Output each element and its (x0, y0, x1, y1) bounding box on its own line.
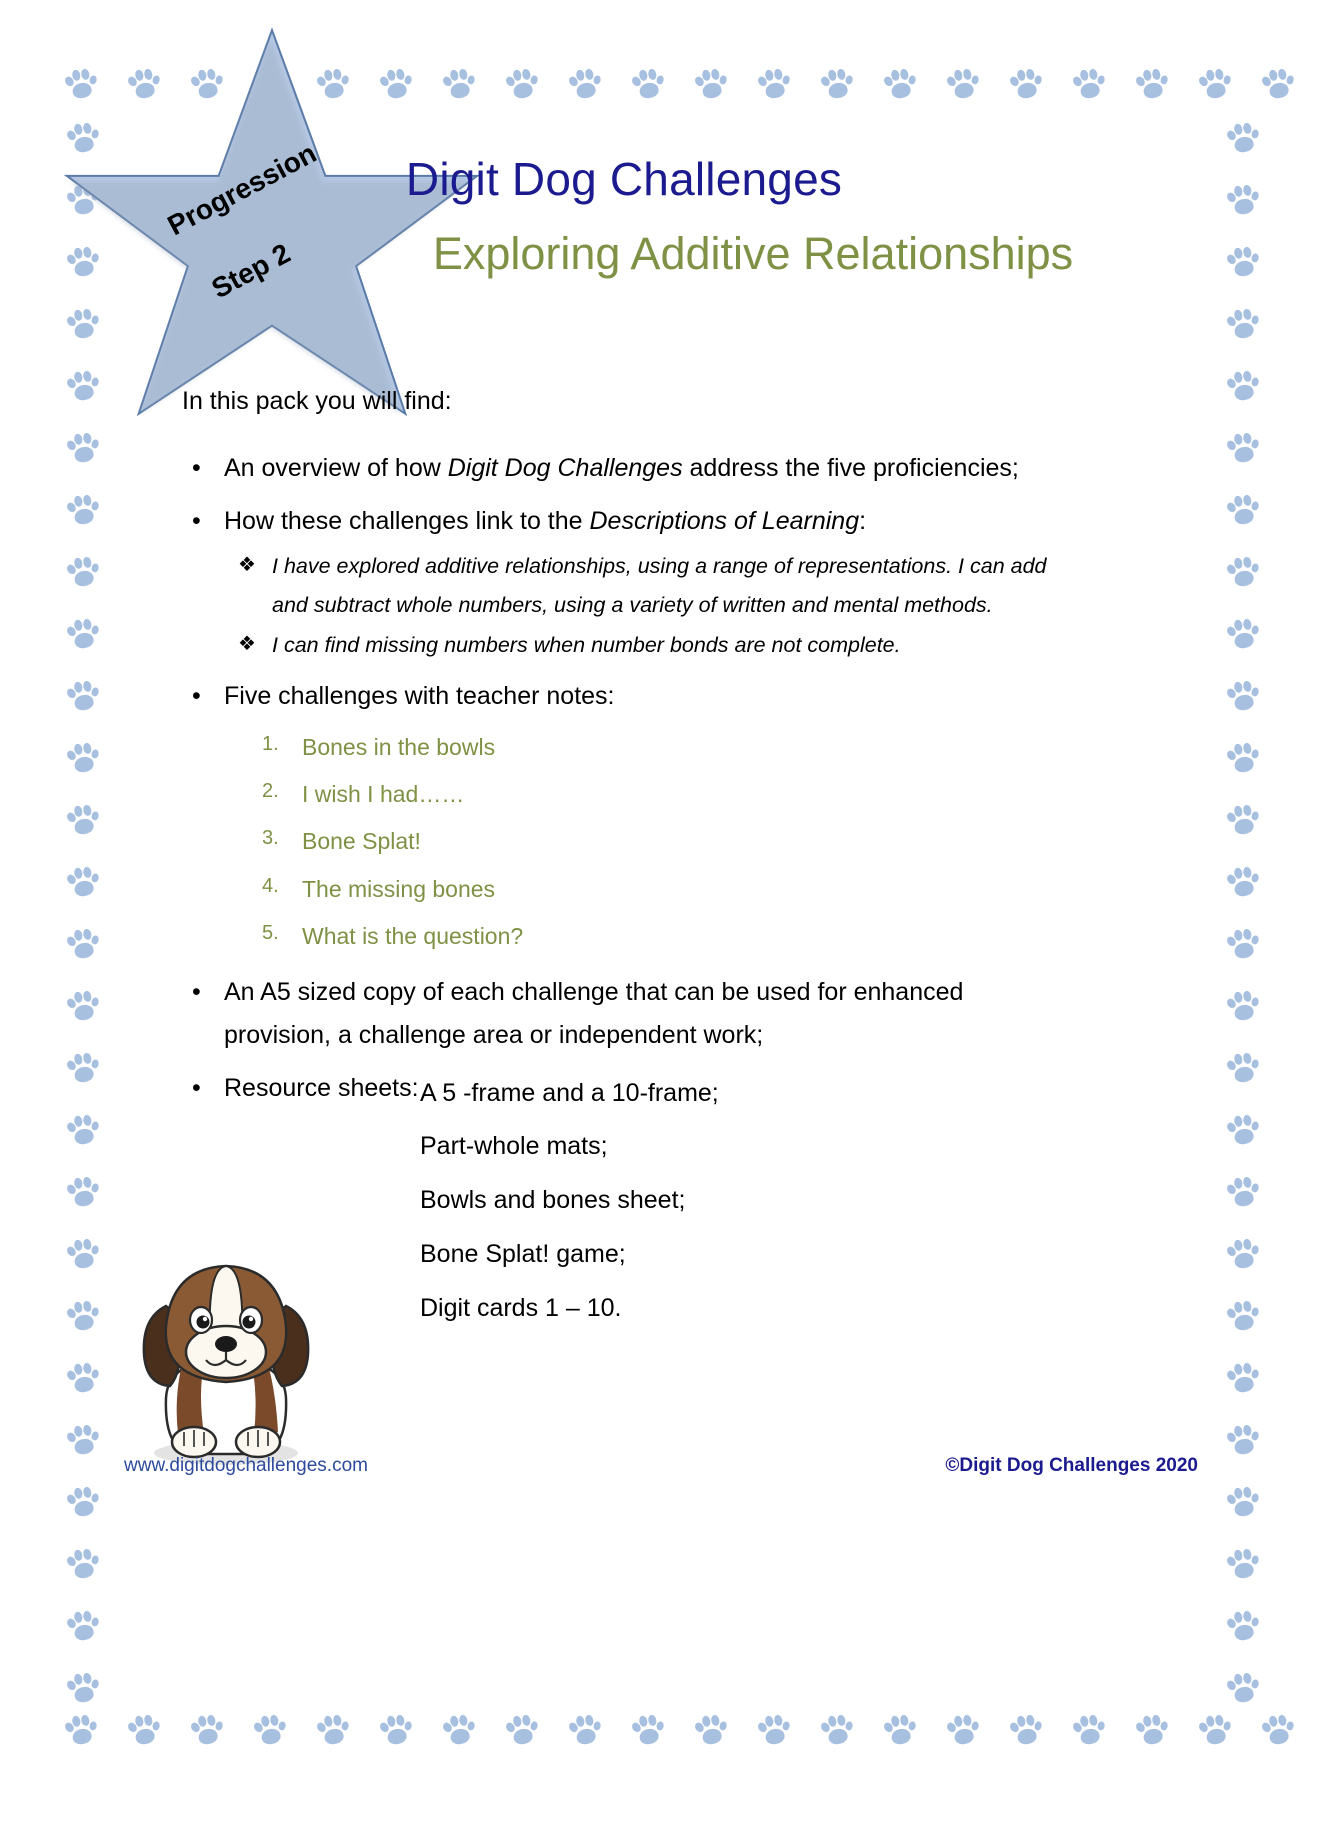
paw-print-icon (1132, 1709, 1172, 1749)
paw-print-icon (63, 1357, 103, 1397)
paw-print-icon (1132, 63, 1172, 103)
resource-item: Part-whole mats; (420, 1120, 1062, 1174)
paw-print-icon (313, 1709, 353, 1749)
challenge-index: 3. (262, 818, 279, 859)
paw-print-icon (63, 737, 103, 777)
challenge-index: 1. (262, 724, 279, 765)
paw-print-icon (943, 63, 983, 103)
description-text: I have explored additive relationships, … (272, 554, 1047, 617)
paw-print-icon (1006, 1709, 1046, 1749)
pack-contents: In this pack you will find: • An overvie… (182, 386, 1062, 1345)
paw-print-icon (63, 1481, 103, 1521)
page-subtitle: Exploring Additive Relationships (250, 228, 1256, 280)
paw-print-icon (63, 1667, 103, 1707)
paw-print-icon (1223, 365, 1263, 405)
challenges-heading: Five challenges with teacher notes: (224, 682, 615, 710)
bullet-text-post: address the five proficiencies; (683, 454, 1019, 482)
paw-print-icon (1223, 427, 1263, 467)
paw-print-icon (1223, 1171, 1263, 1211)
paw-print-icon (1223, 1109, 1263, 1149)
paw-print-icon (691, 63, 731, 103)
paw-print-icon (1258, 1709, 1298, 1749)
paw-print-icon (63, 985, 103, 1025)
challenge-index: 2. (262, 771, 279, 812)
paw-print-icon (1195, 1709, 1235, 1749)
footer-copyright: ©Digit Dog Challenges 2020 (945, 1455, 1198, 1477)
paw-print-icon (1223, 1481, 1263, 1521)
paw-print-icon (439, 1709, 479, 1749)
challenge-label: I wish I had…… (302, 781, 464, 807)
paw-print-icon (502, 63, 542, 103)
bullet-text-pre: An overview of how (224, 454, 448, 482)
paw-print-icon (1223, 1605, 1263, 1645)
page-title: Digit Dog Challenges (0, 152, 1248, 206)
challenge-label: Bone Splat! (302, 828, 421, 854)
document-page: Progression Step 2 Digit Dog Challenges … (0, 0, 1326, 1822)
bullet-icon: • (192, 971, 201, 1014)
paw-print-icon (1223, 675, 1263, 715)
paw-print-icon (1006, 63, 1046, 103)
paw-print-icon (63, 799, 103, 839)
paw-print-icon (1223, 1667, 1263, 1707)
paw-print-icon (1223, 799, 1263, 839)
paw-print-icon (63, 613, 103, 653)
paw-print-icon (880, 1709, 920, 1749)
paw-print-icon (63, 1109, 103, 1149)
list-item: • An A5 sized copy of each challenge tha… (182, 971, 1062, 1057)
resource-item: Bone Splat! game; (420, 1228, 1062, 1282)
paw-print-icon (565, 63, 605, 103)
paw-print-icon (1223, 1047, 1263, 1087)
progression-star-badge: Progression Step 2 (62, 22, 482, 422)
paw-print-icon (1223, 551, 1263, 591)
list-item: ❖ I can find missing numbers when number… (224, 626, 1062, 665)
paw-print-icon (63, 551, 103, 591)
paw-print-icon (754, 1709, 794, 1749)
paw-print-icon (502, 1709, 542, 1749)
bullet-text-pre: How these challenges link to the (224, 507, 590, 535)
star-shadow (70, 32, 470, 422)
paw-print-icon (63, 1605, 103, 1645)
list-item: • An overview of how Digit Dog Challenge… (182, 447, 1062, 490)
paw-print-icon (1223, 861, 1263, 901)
paw-print-icon (817, 63, 857, 103)
a5-copy-text: An A5 sized copy of each challenge that … (224, 978, 963, 1049)
challenge-label: What is the question? (302, 923, 523, 949)
bullet-icon: • (192, 1067, 201, 1110)
paw-print-icon (1223, 613, 1263, 653)
list-item: 2. I wish I had…… (224, 771, 1062, 818)
challenges-list: 1. Bones in the bowls 2. I wish I had…… … (224, 724, 1062, 961)
paw-print-icon (61, 1709, 101, 1749)
bullet-icon: • (192, 447, 201, 490)
list-item: ❖ I have explored additive relationships… (224, 547, 1062, 625)
paw-print-icon (63, 923, 103, 963)
paw-print-icon (1069, 1709, 1109, 1749)
paw-print-icon (250, 1709, 290, 1749)
paw-print-icon (1258, 63, 1298, 103)
paw-print-icon (63, 1543, 103, 1583)
paw-print-icon (1223, 1295, 1263, 1335)
paw-print-icon (1223, 1419, 1263, 1459)
resource-item: Bowls and bones sheet; (420, 1174, 1062, 1228)
paw-print-icon (63, 1419, 103, 1459)
list-item: • Five challenges with teacher notes: 1.… (182, 675, 1062, 961)
paw-print-icon (63, 1295, 103, 1335)
description-text: I can find missing numbers when number b… (272, 633, 901, 657)
challenge-index: 5. (262, 913, 279, 954)
resource-sheets-list: A 5 -frame and a 10-frame; Part-whole ma… (420, 1067, 1062, 1336)
diamond-bullet-icon: ❖ (238, 626, 256, 662)
descriptions-of-learning-list: ❖ I have explored additive relationships… (224, 547, 1062, 664)
list-item: 3. Bone Splat! (224, 818, 1062, 865)
diamond-bullet-icon: ❖ (238, 547, 256, 583)
paw-print-icon (628, 1709, 668, 1749)
paw-print-icon (1223, 1233, 1263, 1273)
dog-illustration (126, 1248, 326, 1468)
paw-print-icon (691, 1709, 731, 1749)
paw-print-icon (1223, 303, 1263, 343)
paw-print-icon (1195, 63, 1235, 103)
paw-print-icon (63, 489, 103, 529)
paw-print-icon (1223, 1357, 1263, 1397)
paw-print-icon (817, 1709, 857, 1749)
paw-print-icon (880, 63, 920, 103)
paw-print-icon (376, 1709, 416, 1749)
challenge-label: Bones in the bowls (302, 734, 495, 760)
bullet-text-italic: Descriptions of Learning (590, 507, 860, 535)
list-item: 1. Bones in the bowls (224, 724, 1062, 771)
footer-website-link[interactable]: www.digitdogchallenges.com (124, 1455, 368, 1477)
resource-item: A 5 -frame and a 10-frame; (420, 1067, 1062, 1121)
list-item: 4. The missing bones (224, 866, 1062, 913)
paw-print-icon (1223, 1543, 1263, 1583)
bullet-icon: • (192, 500, 201, 543)
paw-print-icon (63, 427, 103, 467)
contents-list: • An overview of how Digit Dog Challenge… (182, 447, 1062, 1335)
paw-print-icon (1223, 985, 1263, 1025)
bullet-text-post: : (859, 507, 866, 535)
paw-print-icon (565, 1709, 605, 1749)
paw-print-icon (63, 675, 103, 715)
paw-print-icon (63, 861, 103, 901)
resource-sheets-row: Resource sheets: A 5 -frame and a 10-fra… (224, 1067, 1062, 1336)
paw-print-icon (63, 1171, 103, 1211)
paw-print-icon (754, 63, 794, 103)
list-item: • How these challenges link to the Descr… (182, 500, 1062, 664)
paw-print-icon (187, 1709, 227, 1749)
paw-print-icon (1223, 737, 1263, 777)
paw-print-icon (628, 63, 668, 103)
paw-print-icon (1223, 489, 1263, 529)
intro-line: In this pack you will find: (182, 386, 1062, 417)
list-item: 5. What is the question? (224, 913, 1062, 960)
paw-print-icon (1069, 63, 1109, 103)
paw-print-icon (63, 1233, 103, 1273)
challenge-label: The missing bones (302, 876, 495, 902)
resource-item: Digit cards 1 – 10. (420, 1282, 1062, 1336)
bullet-text-italic: Digit Dog Challenges (448, 454, 683, 482)
paw-print-icon (124, 1709, 164, 1749)
paw-print-icon (943, 1709, 983, 1749)
bullet-icon: • (192, 675, 201, 718)
paw-print-icon (1223, 923, 1263, 963)
paw-print-icon (63, 1047, 103, 1087)
challenge-index: 4. (262, 866, 279, 907)
